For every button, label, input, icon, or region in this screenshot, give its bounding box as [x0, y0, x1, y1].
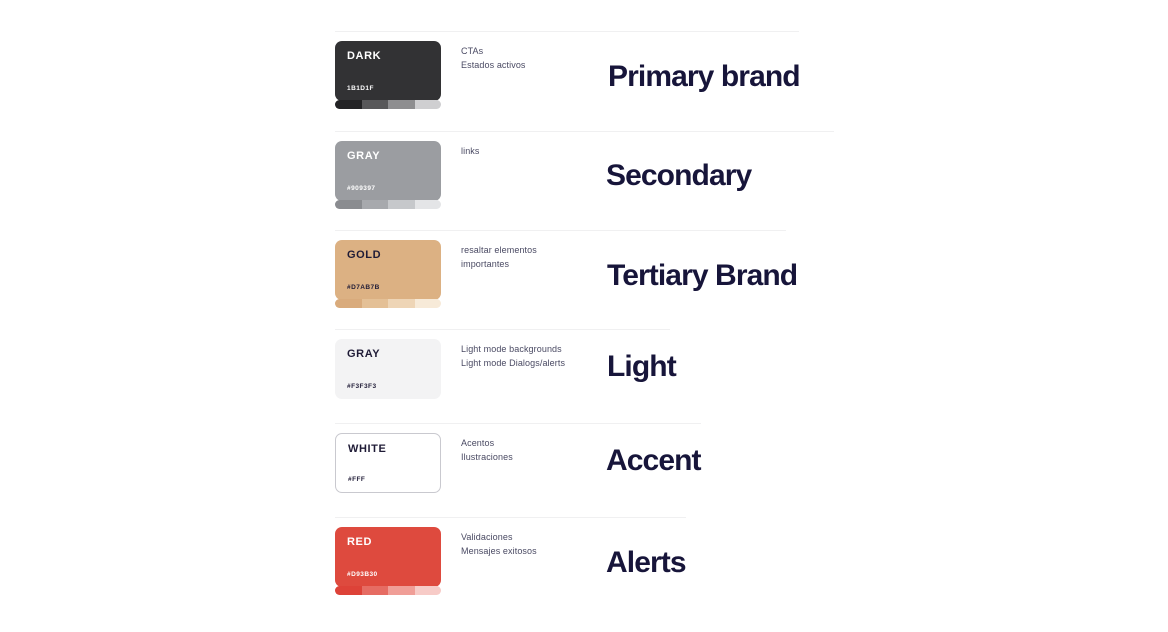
shade-segment-1: [335, 586, 362, 595]
palette-heading: Primary brand: [608, 62, 800, 92]
color-swatch[interactable]: GRAY#F3F3F3: [335, 339, 441, 399]
color-swatch[interactable]: DARK1B1D1F: [335, 41, 441, 101]
usage-line: Ilustraciones: [461, 451, 513, 465]
row-divider: [335, 423, 701, 424]
usage-line: links: [461, 145, 480, 159]
swatch-hex-code: #D7AB7B: [347, 285, 380, 292]
row-divider: [335, 329, 670, 330]
usage-line: resaltar elementos: [461, 244, 537, 258]
color-shade-strip[interactable]: [335, 200, 441, 209]
usage-description: Light mode backgroundsLight mode Dialogs…: [461, 343, 565, 370]
row-divider: [335, 517, 686, 518]
shade-segment-3: [388, 200, 415, 209]
shade-segment-4: [415, 200, 442, 209]
shade-segment-2: [362, 586, 389, 595]
usage-description: AcentosIlustraciones: [461, 437, 513, 464]
swatch-hex-code: #D93B30: [347, 572, 378, 579]
usage-line: Validaciones: [461, 531, 537, 545]
row-divider: [335, 230, 786, 231]
shade-segment-3: [388, 299, 415, 308]
usage-description: links: [461, 145, 480, 159]
swatch-name: GRAY: [347, 349, 429, 360]
swatch-hex-code: #F3F3F3: [347, 384, 377, 391]
swatch-name: WHITE: [348, 444, 428, 455]
shade-segment-4: [415, 100, 442, 109]
shade-segment-2: [362, 100, 389, 109]
swatch-name: GRAY: [347, 151, 429, 162]
shade-segment-1: [335, 200, 362, 209]
palette-heading: Secondary: [606, 161, 751, 191]
usage-description: ValidacionesMensajes exitosos: [461, 531, 537, 558]
row-divider: [335, 31, 799, 32]
swatch-name: GOLD: [347, 250, 429, 261]
usage-description: CTAsEstados activos: [461, 45, 526, 72]
color-shade-strip[interactable]: [335, 586, 441, 595]
color-swatch[interactable]: WHITE#FFF: [335, 433, 441, 493]
shade-segment-3: [388, 100, 415, 109]
shade-segment-3: [388, 586, 415, 595]
color-swatch[interactable]: GOLD#D7AB7B: [335, 240, 441, 300]
swatch-name: DARK: [347, 51, 429, 62]
palette-heading: Light: [607, 352, 676, 382]
shade-segment-4: [415, 299, 442, 308]
usage-line: Estados activos: [461, 59, 526, 73]
swatch-name: RED: [347, 537, 429, 548]
color-swatch[interactable]: RED#D93B30: [335, 527, 441, 587]
usage-line: CTAs: [461, 45, 526, 59]
usage-description: resaltar elementosimportantes: [461, 244, 537, 271]
shade-segment-1: [335, 100, 362, 109]
shade-segment-1: [335, 299, 362, 308]
shade-segment-4: [415, 586, 442, 595]
palette-heading: Accent: [606, 446, 701, 476]
shade-segment-2: [362, 299, 389, 308]
usage-line: Light mode backgrounds: [461, 343, 565, 357]
usage-line: Light mode Dialogs/alerts: [461, 357, 565, 371]
palette-heading: Tertiary Brand: [607, 261, 797, 291]
swatch-hex-code: #909397: [347, 186, 375, 193]
color-shade-strip[interactable]: [335, 100, 441, 109]
color-swatch[interactable]: GRAY#909397: [335, 141, 441, 201]
usage-line: importantes: [461, 258, 537, 272]
swatch-hex-code: 1B1D1F: [347, 86, 374, 93]
shade-segment-2: [362, 200, 389, 209]
row-divider: [335, 131, 834, 132]
palette-heading: Alerts: [606, 548, 686, 578]
usage-line: Acentos: [461, 437, 513, 451]
swatch-hex-code: #FFF: [348, 477, 365, 484]
color-shade-strip[interactable]: [335, 299, 441, 308]
usage-line: Mensajes exitosos: [461, 545, 537, 559]
color-palette-page: DARK1B1D1FCTAsEstados activosPrimary bra…: [0, 0, 1168, 632]
